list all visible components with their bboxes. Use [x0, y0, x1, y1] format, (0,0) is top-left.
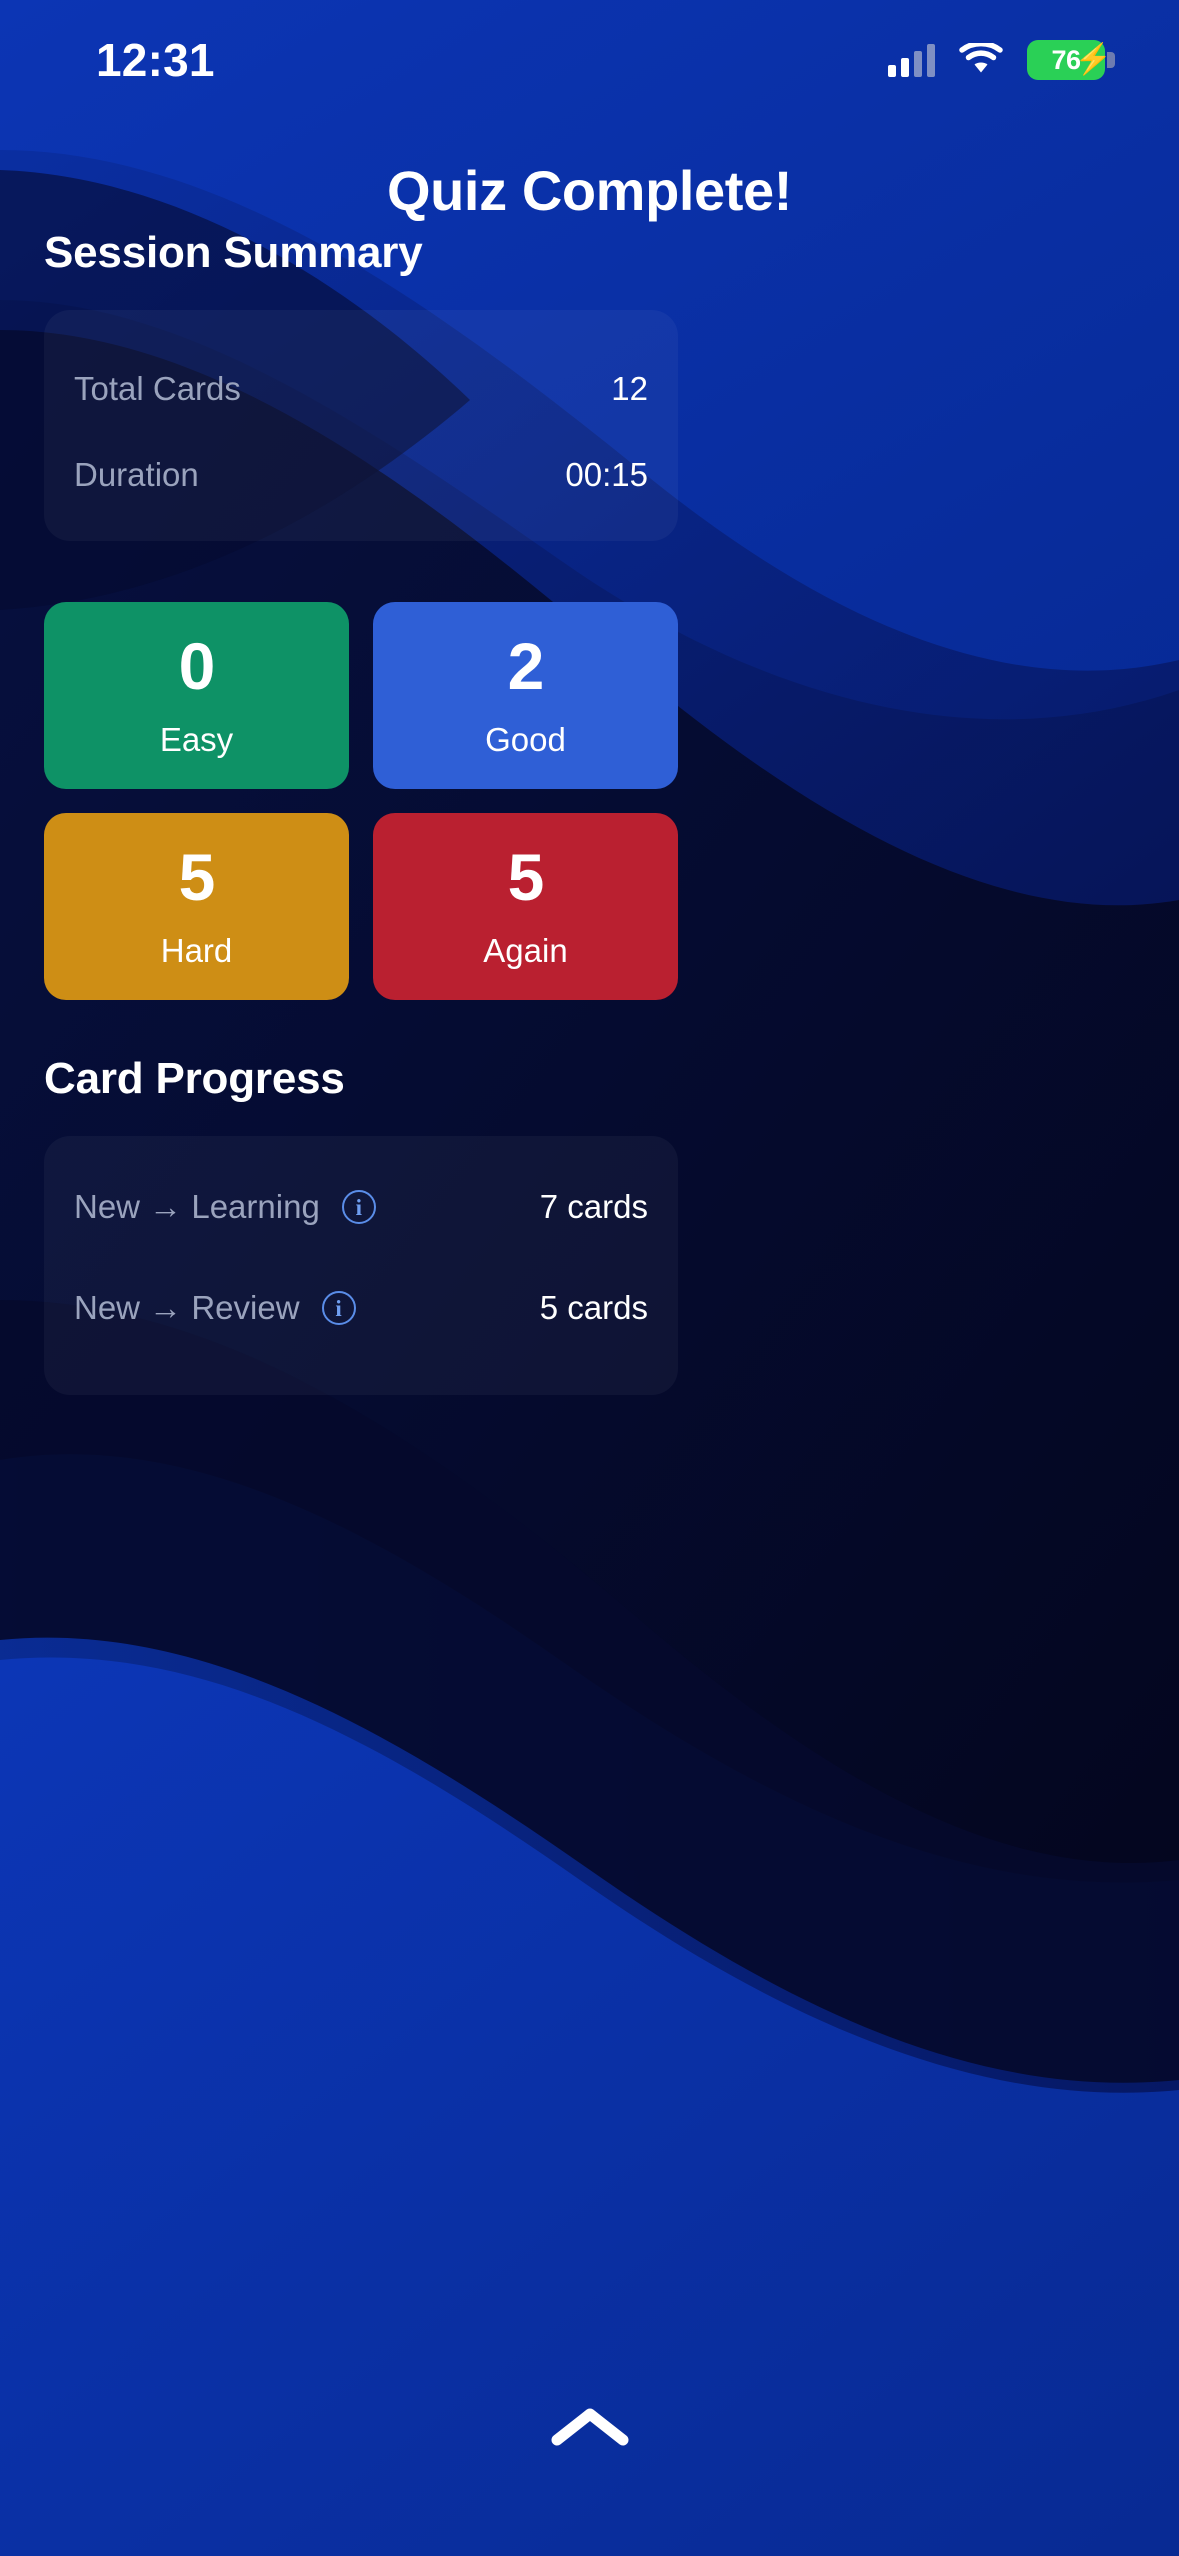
stat-label: Good	[485, 721, 566, 759]
stat-count: 5	[179, 844, 215, 910]
info-icon[interactable]: i	[342, 1190, 376, 1224]
wifi-icon	[959, 43, 1003, 77]
main-content: Quiz Complete! Session Summary Total Car…	[0, 0, 1179, 2556]
progress-row-new-learning: New → Learning i 7 cards	[74, 1188, 648, 1226]
charging-bolt-icon: ⚡	[1075, 45, 1112, 75]
stat-label: Again	[483, 932, 567, 970]
stat-count: 0	[179, 633, 215, 699]
rating-stats-grid: 0 Easy 2 Good 5 Hard 5 Again	[44, 602, 678, 1000]
progress-value: 5 cards	[540, 1289, 648, 1327]
session-summary-heading: Session Summary	[44, 228, 423, 278]
chevron-up-icon[interactable]	[545, 2400, 635, 2460]
progress-value: 7 cards	[540, 1188, 648, 1226]
status-time: 12:31	[96, 33, 215, 87]
battery-charging-icon: 76 ⚡	[1027, 40, 1115, 80]
chevron-up-icon-svg	[545, 2400, 635, 2460]
stat-label: Easy	[160, 721, 233, 759]
stat-count: 5	[508, 844, 544, 910]
status-icons: 76 ⚡	[888, 40, 1115, 80]
info-icon[interactable]: i	[322, 1291, 356, 1325]
summary-value: 00:15	[565, 456, 648, 494]
stat-card-good[interactable]: 2 Good	[373, 602, 678, 789]
summary-value: 12	[611, 370, 648, 408]
stat-label: Hard	[161, 932, 233, 970]
wifi-icon-svg	[959, 43, 1003, 77]
progress-label: New → Review	[74, 1289, 300, 1327]
page-title: Quiz Complete!	[0, 158, 1179, 223]
stat-card-easy[interactable]: 0 Easy	[44, 602, 349, 789]
card-progress-heading: Card Progress	[44, 1054, 345, 1104]
cellular-signal-icon	[888, 43, 935, 77]
card-progress-card: New → Learning i 7 cards New → Review i …	[44, 1136, 678, 1395]
app-screen: 12:31 76 ⚡ Quiz Complete!	[0, 0, 1179, 2556]
status-bar: 12:31 76 ⚡	[0, 0, 1179, 120]
session-summary-card: Total Cards 12 Duration 00:15	[44, 310, 678, 541]
summary-label: Duration	[74, 456, 199, 494]
stat-count: 2	[508, 633, 544, 699]
stat-card-again[interactable]: 5 Again	[373, 813, 678, 1000]
summary-row-duration: Duration 00:15	[74, 456, 648, 494]
progress-label: New → Learning	[74, 1188, 320, 1226]
summary-label: Total Cards	[74, 370, 241, 408]
stat-card-hard[interactable]: 5 Hard	[44, 813, 349, 1000]
progress-row-new-review: New → Review i 5 cards	[74, 1289, 648, 1327]
summary-row-total-cards: Total Cards 12	[74, 370, 648, 408]
